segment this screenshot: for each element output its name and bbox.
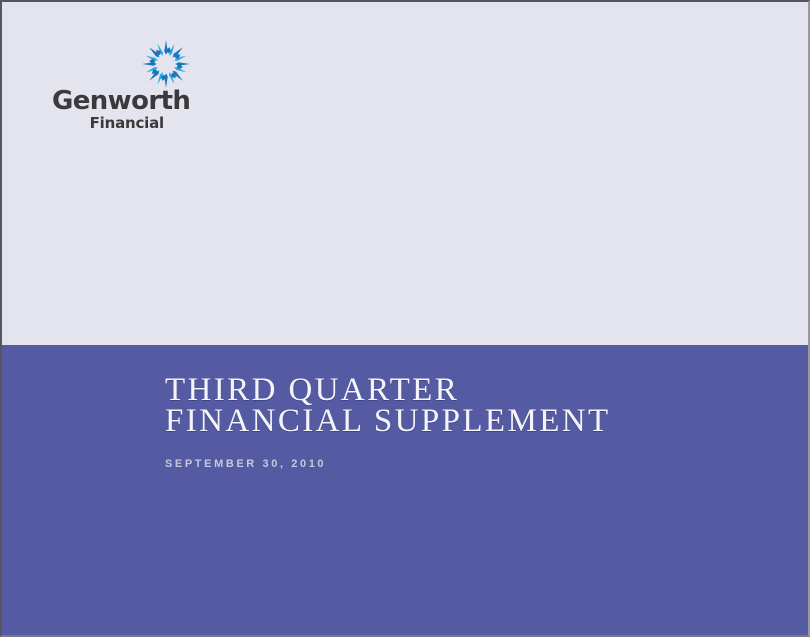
- cover-date: SEPTEMBER 30, 2010: [165, 458, 326, 470]
- cover-page: THIRD QUARTER FINANCIAL SUPPLEMENT SEPTE…: [0, 0, 810, 637]
- genworth-starburst-icon: [140, 38, 192, 90]
- title-line-1: THIRD QUARTER: [165, 375, 611, 406]
- genworth-wordmark: Genworth: [52, 88, 164, 114]
- lower-purple-band: THIRD QUARTER FINANCIAL SUPPLEMENT SEPTE…: [2, 345, 808, 635]
- upper-light-panel: [2, 2, 808, 345]
- title-line-2: FINANCIAL SUPPLEMENT: [165, 406, 611, 437]
- genworth-subword: Financial: [52, 116, 164, 131]
- cover-title: THIRD QUARTER FINANCIAL SUPPLEMENT: [165, 375, 611, 437]
